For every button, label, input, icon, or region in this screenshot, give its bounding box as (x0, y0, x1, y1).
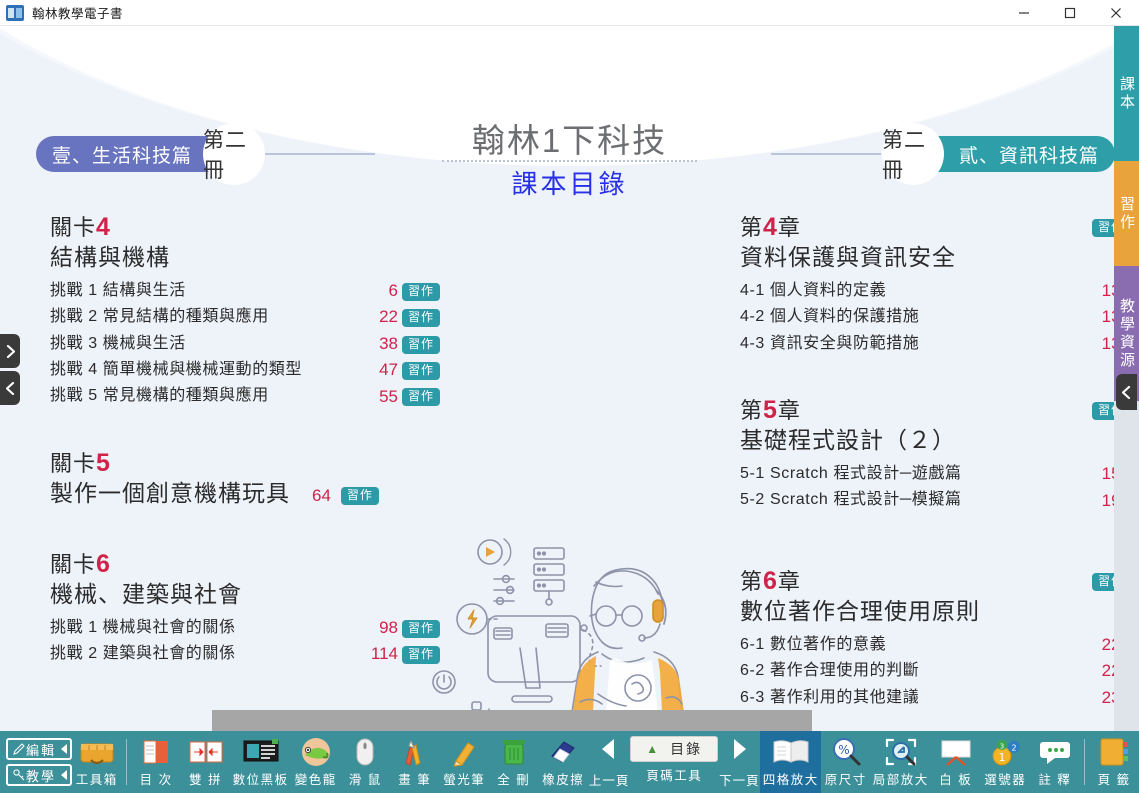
section-kicker-number: 6 (763, 567, 778, 595)
actual-size-icon: % (831, 735, 861, 769)
title-bar: 翰林教學電子書 (0, 0, 1139, 26)
workbook-badge[interactable]: 習作 (341, 487, 379, 505)
section-page: 64 (312, 486, 331, 506)
section-title: 結構與機構 (50, 243, 440, 273)
section-kicker: 第5章 (740, 395, 1130, 426)
toc-entry-label: 挑戰 4 簡單機械與機械運動的類型 (50, 358, 302, 383)
mode-teach-arrow-icon (61, 770, 67, 780)
trash-icon (501, 735, 527, 769)
toc-entry-label: 挑戰 5 常見機構的種類與應用 (50, 384, 269, 409)
page-subtitle: 課本目錄 (0, 164, 1139, 201)
eraser-icon (548, 735, 578, 769)
section-kicker: 第6章 (740, 566, 1130, 597)
chameleon-icon (299, 735, 333, 769)
side-rail-filler (1114, 401, 1139, 731)
tool-dual-page[interactable]: 雙 拼 (181, 731, 231, 793)
key-icon (12, 769, 26, 781)
toc-entry-badge-slot: 習作 (398, 305, 440, 330)
side-rail-collapse-icon[interactable] (1116, 374, 1137, 410)
tool-region-zoom[interactable]: 局部放大 (871, 731, 932, 793)
toc-entry[interactable]: 挑戰 3 機械與生活 38 習作 (50, 331, 440, 357)
toc-column-left: 關卡4 結構與機構 挑戰 1 結構與生活 6 習作 挑戰 2 常見結構的種類與應… (50, 212, 440, 694)
toc-entry-label: 挑戰 2 建築與社會的關係 (50, 642, 236, 667)
toc-entry-label: 5-1 Scratch 程式設計─遊戲篇 (740, 462, 962, 487)
tool-number-picker-label: 選號器 (984, 769, 1026, 788)
toc-entry-label: 挑戰 2 常見結構的種類與應用 (50, 305, 269, 330)
app-window: 翰林教學電子書 壹、生活科技篇 第二冊 貳、資訊科技篇 第 (0, 0, 1139, 793)
next-page-label: 下一頁 (719, 770, 760, 789)
tool-contents-label: 目 次 (140, 769, 173, 788)
mode-button-teach-label: 教學 (26, 766, 56, 785)
dual-page-icon (188, 735, 224, 769)
pen-icon (400, 735, 430, 769)
tool-four-grid-zoom-label: 四格放大 (763, 769, 819, 788)
toc-section: 習作 第4章 資料保護與資訊安全 4-1 個人資料的定義 134 4-2 個人資… (740, 212, 1130, 357)
book-page-canvas: 壹、生活科技篇 第二冊 貳、資訊科技篇 第二冊 翰林1下科技 課本目錄 關卡4 … (0, 26, 1139, 731)
bottom-toolbar: 編輯 教學 (0, 731, 1139, 793)
tool-actual-size-label: 原尺寸 (825, 769, 867, 788)
page-tool[interactable]: ▲ 目錄 頁碼工具 (630, 731, 718, 793)
tool-clear-all[interactable]: 全 刪 (489, 731, 539, 793)
page-number-value: 目錄 (670, 739, 702, 759)
tool-digital-blackboard[interactable]: 數位黑板 (230, 731, 291, 793)
mode-button-teach[interactable]: 教學 (6, 764, 72, 786)
tool-toolbox[interactable]: 工具箱 (72, 731, 122, 793)
section-kicker-suffix: 章 (778, 569, 801, 594)
section-title: 基礎程式設計（２） (740, 426, 1130, 456)
toc-entry[interactable]: 挑戰 2 建築與社會的關係 114 習作 (50, 641, 440, 667)
workbook-badge[interactable]: 習作 (402, 283, 440, 301)
toc-entry-label: 挑戰 3 機械與生活 (50, 332, 186, 357)
section-kicker: 關卡6 (50, 549, 440, 580)
section-kicker-prefix: 第 (740, 569, 763, 594)
tool-digital-blackboard-label: 數位黑板 (233, 769, 289, 788)
contents-icon (139, 735, 173, 769)
toc-entry[interactable]: 4-1 個人資料的定義 134 (740, 278, 1130, 304)
workbook-badge[interactable]: 習作 (402, 309, 440, 327)
four-grid-zoom-icon (771, 735, 811, 769)
bookmark-icon (1098, 735, 1130, 769)
toc-entry-label: 6-1 數位著作的意義 (740, 633, 886, 658)
toc-entry[interactable]: 挑戰 1 結構與生活 6 習作 (50, 278, 440, 304)
toc-entry-label: 4-1 個人資料的定義 (740, 279, 886, 304)
mode-switch-group: 編輯 教學 (0, 731, 72, 793)
side-tab-workbook-label: 習作 (1116, 196, 1137, 232)
panel-collapse-left-icon[interactable] (0, 371, 20, 405)
toc-entry-page: 114 (364, 641, 398, 667)
toc-entry[interactable]: 4-2 個人資料的保護措施 135 (740, 304, 1130, 330)
section-kicker-suffix: 章 (778, 398, 801, 423)
svg-text:1: 1 (999, 751, 1006, 764)
tool-bookmark[interactable]: 頁 籤 (1089, 731, 1139, 793)
section-title-row[interactable]: 製作一個創意機構玩具 64 習作 (50, 479, 440, 509)
pencil-icon (12, 743, 26, 755)
tool-mouse[interactable]: 滑 鼠 (340, 731, 390, 793)
svg-text:3: 3 (1000, 743, 1004, 751)
tool-dual-page-label: 雙 拼 (189, 769, 222, 788)
section-kicker: 關卡4 (50, 212, 440, 243)
mouse-icon (353, 735, 377, 769)
toc-entry-label: 6-3 著作利用的其他建議 (740, 686, 919, 711)
section-kicker-number: 6 (96, 550, 111, 578)
tool-highlighter[interactable]: 螢光筆 (439, 731, 489, 793)
toc-entry-label: 4-2 個人資料的保護措施 (740, 305, 919, 330)
number-picker-icon: 1 3 2 (989, 735, 1021, 769)
toc-section: 習作 第5章 基礎程式設計（２） 5-1 Scratch 程式設計─遊戲篇 15… (740, 395, 1130, 514)
next-page-icon (728, 737, 750, 766)
minimize-icon[interactable] (1001, 0, 1047, 26)
section-kicker-number: 4 (763, 213, 778, 241)
title-divider (442, 160, 697, 162)
side-tab-resources-label: 教學資源 (1116, 298, 1137, 370)
section-kicker-prefix: 關卡 (50, 451, 96, 476)
toc-entry-badge-slot: 習作 (398, 332, 440, 357)
region-zoom-icon (885, 735, 917, 769)
tool-chameleon[interactable]: 變色龍 (291, 731, 341, 793)
toc-entry-page: 6 (364, 278, 398, 304)
tool-pen[interactable]: 畫 筆 (390, 731, 440, 793)
tool-toolbox-label: 工具箱 (76, 769, 118, 788)
section-kicker-prefix: 關卡 (50, 215, 96, 240)
toc-entry[interactable]: 6-1 數位著作的意義 224 (740, 632, 1130, 658)
tool-actual-size[interactable]: % 原尺寸 (821, 731, 871, 793)
tool-contents[interactable]: 目 次 (131, 731, 181, 793)
tool-region-zoom-label: 局部放大 (873, 769, 929, 788)
section-title: 資料保護與資訊安全 (740, 243, 1130, 273)
section-title: 數位著作合理使用原則 (740, 597, 1130, 627)
section-title: 機械、建築與社會 (50, 580, 440, 610)
toc-entry[interactable]: 6-3 著作利用的其他建議 233 (740, 685, 1130, 711)
side-tab-textbook[interactable]: 課本 (1114, 26, 1139, 161)
close-icon[interactable] (1093, 0, 1139, 26)
section-kicker-suffix: 章 (778, 215, 801, 240)
toc-entry-label: 挑戰 1 機械與社會的關係 (50, 616, 236, 641)
mode-button-edit-label: 編輯 (26, 740, 56, 759)
highlighter-icon (448, 735, 480, 769)
toc-section: 習作 第6章 數位著作合理使用原則 6-1 數位著作的意義 224 6-2 著作… (740, 566, 1130, 711)
side-tab-textbook-label: 課本 (1116, 76, 1137, 112)
toc-entry[interactable]: 5-1 Scratch 程式設計─遊戲篇 152 (740, 461, 1130, 487)
toc-section: 關卡6 機械、建築與社會 挑戰 1 機械與社會的關係 98 習作 挑戰 2 建築… (50, 549, 440, 668)
toolbox-icon (79, 735, 115, 769)
section-kicker: 第4章 (740, 212, 1130, 243)
toc-entry[interactable]: 挑戰 4 簡單機械與機械運動的類型 47 習作 (50, 357, 440, 383)
annotation-icon (1039, 735, 1071, 769)
toc-entry[interactable]: 5-2 Scratch 程式設計─模擬篇 190 (740, 488, 1130, 514)
page-title: 翰林1下科技 (0, 114, 1139, 162)
section-kicker-prefix: 關卡 (50, 552, 96, 577)
page-tool-label: 頁碼工具 (646, 765, 702, 784)
prev-page-icon (598, 737, 620, 766)
toc-entry-badge-slot: 習作 (398, 384, 440, 409)
maximize-icon[interactable] (1047, 0, 1093, 26)
blackboard-icon (242, 735, 280, 769)
student-computer-illustration (420, 524, 720, 731)
toc-entry-label: 5-2 Scratch 程式設計─模擬篇 (740, 488, 962, 513)
panel-expand-right-icon[interactable] (0, 334, 20, 368)
section-kicker: 關卡5 (50, 448, 440, 479)
toc-entry-page: 47 (364, 357, 398, 383)
toc-entry[interactable]: 6-2 著作合理使用的判斷 227 (740, 658, 1130, 684)
tool-bookmark-label: 頁 籤 (1098, 769, 1131, 788)
tool-clear-all-label: 全 刪 (497, 769, 530, 788)
toc-column-right: 習作 第4章 資料保護與資訊安全 4-1 個人資料的定義 134 4-2 個人資… (740, 212, 1130, 731)
section-kicker-number: 4 (96, 213, 111, 241)
tool-whiteboard-label: 白 板 (939, 769, 972, 788)
tool-eraser-label: 橡皮擦 (542, 769, 584, 788)
prev-page-button[interactable]: 上一頁 (588, 731, 630, 793)
toc-entry-badge-slot: 習作 (398, 358, 440, 383)
toc-entry-label: 挑戰 1 結構與生活 (50, 279, 186, 304)
window-title: 翰林教學電子書 (32, 3, 123, 22)
chevron-up-icon[interactable]: ▲ (646, 742, 660, 756)
toc-entry-badge-slot: 習作 (398, 279, 440, 304)
section-title: 製作一個創意機構玩具 (50, 479, 290, 509)
toc-entry[interactable]: 挑戰 2 常見結構的種類與應用 22 習作 (50, 304, 440, 330)
mode-edit-arrow-icon (61, 744, 67, 754)
side-tab-workbook[interactable]: 習作 (1114, 161, 1139, 266)
prev-page-label: 上一頁 (589, 770, 630, 789)
toolbar-divider (1084, 739, 1086, 785)
tool-number-picker[interactable]: 1 3 2 選號器 (981, 731, 1031, 793)
workbook-badge[interactable]: 習作 (402, 336, 440, 354)
toc-entry-page: 38 (364, 331, 398, 357)
tool-annotation[interactable]: 註 釋 (1030, 731, 1080, 793)
tool-eraser[interactable]: 橡皮擦 (539, 731, 589, 793)
tool-highlighter-label: 螢光筆 (443, 769, 485, 788)
toc-entry[interactable]: 挑戰 5 常見機構的種類與應用 55 習作 (50, 384, 440, 410)
section-kicker-number: 5 (763, 396, 778, 424)
tool-chameleon-label: 變色龍 (295, 769, 337, 788)
svg-text:%: % (838, 743, 849, 757)
toc-entry-page: 98 (364, 615, 398, 641)
tool-mouse-label: 滑 鼠 (349, 769, 382, 788)
tool-whiteboard[interactable]: 白 板 (931, 731, 981, 793)
toc-entry-label: 6-2 著作合理使用的判斷 (740, 659, 919, 684)
toc-section: 關卡5 製作一個創意機構玩具 64 習作 (50, 448, 440, 509)
toc-entry-page: 55 (364, 384, 398, 410)
whiteboard-icon (939, 735, 973, 769)
window-controls (1001, 0, 1139, 26)
toc-entry-page: 22 (364, 304, 398, 330)
toolbar-divider (126, 739, 128, 785)
next-page-button[interactable]: 下一頁 (718, 731, 760, 793)
toc-entry[interactable]: 4-3 資訊安全與防範措施 138 (740, 331, 1130, 357)
toc-entry-label: 4-3 資訊安全與防範措施 (740, 332, 919, 357)
page-number-field[interactable]: ▲ 目錄 (630, 736, 718, 762)
section-kicker-prefix: 第 (740, 398, 763, 423)
mode-button-edit[interactable]: 編輯 (6, 738, 72, 760)
tool-annotation-label: 註 釋 (1038, 769, 1071, 788)
side-tab-rail: 課本 習作 教學資源 (1114, 26, 1139, 731)
toc-section: 關卡4 結構與機構 挑戰 1 結構與生活 6 習作 挑戰 2 常見結構的種類與應… (50, 212, 440, 410)
tool-pen-label: 畫 筆 (398, 769, 431, 788)
workbook-badge[interactable]: 習作 (402, 362, 440, 380)
app-book-icon (6, 5, 24, 21)
tool-four-grid-zoom[interactable]: 四格放大 (760, 731, 821, 793)
workbook-badge[interactable]: 習作 (402, 388, 440, 406)
section-page-row: 64 習作 (312, 486, 379, 509)
toc-entry[interactable]: 挑戰 1 機械與社會的關係 98 習作 (50, 615, 440, 641)
desk-bar (212, 710, 812, 731)
section-kicker-prefix: 第 (740, 215, 763, 240)
svg-text:2: 2 (1012, 744, 1017, 753)
section-kicker-number: 5 (96, 449, 111, 477)
